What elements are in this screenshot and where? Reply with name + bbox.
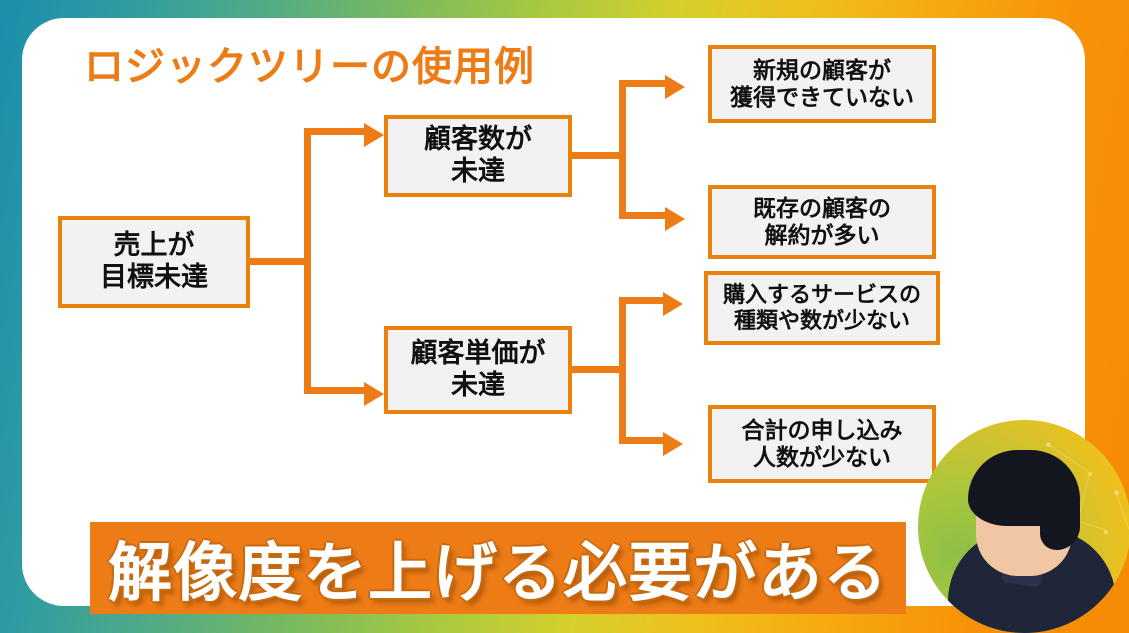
- connector-branch-1-to-leaf-2: [619, 212, 667, 219]
- connector-root-to-branch-1: [304, 128, 366, 135]
- arrowhead-leaf-2-icon: [665, 207, 685, 231]
- tree-node-line: 合計の申し込み: [742, 417, 903, 444]
- arrowhead-leaf-4-icon: [663, 432, 683, 456]
- connector-root-stem: [250, 258, 310, 265]
- arrowhead-branch-2-icon: [364, 382, 384, 406]
- conclusion-banner: 解像度を上げる必要がある: [90, 522, 906, 614]
- tree-node-line: 獲得できていない: [730, 84, 914, 111]
- tree-node-line: 顧客単価が: [411, 338, 546, 370]
- connector-branch-2-to-leaf-4: [619, 437, 665, 444]
- arrowhead-leaf-1-icon: [665, 75, 685, 99]
- page-title: ロジックツリーの使用例: [84, 44, 535, 90]
- tree-node-branch-1: 顧客数が 未達: [384, 115, 572, 197]
- slide-stage: ロジックツリーの使用例 売上が 目標未達 顧客数が 未達 顧客単価が: [0, 0, 1129, 633]
- arrowhead-leaf-3-icon: [663, 292, 683, 316]
- arrowhead-branch-1-icon: [364, 123, 384, 147]
- tree-node-line: 顧客数が: [424, 124, 532, 156]
- tree-node-root: 売上が 目標未達: [58, 216, 250, 308]
- tree-node-leaf-1: 新規の顧客が 獲得できていない: [708, 45, 936, 123]
- connector-branch-2-vertical: [619, 297, 626, 444]
- presenter-video-inset: [918, 420, 1129, 633]
- tree-node-line: 購入するサービスの: [723, 282, 921, 308]
- connector-branch-2-stem: [572, 366, 624, 373]
- tree-node-line: 売上が: [114, 230, 195, 262]
- tree-node-line: 未達: [451, 370, 505, 402]
- tree-node-line: 人数が少ない: [753, 444, 891, 471]
- tree-node-leaf-3: 購入するサービスの 種類や数が少ない: [704, 271, 940, 345]
- tree-node-line: 目標未達: [100, 262, 208, 294]
- tree-node-leaf-4: 合計の申し込み 人数が少ない: [708, 405, 936, 483]
- connector-branch-1-to-leaf-1: [619, 80, 667, 87]
- presenter-hair-side: [1040, 474, 1080, 550]
- tree-node-line: 解約が多い: [765, 222, 880, 249]
- tree-node-line: 既存の顧客の: [753, 195, 891, 222]
- tree-node-line: 未達: [451, 156, 505, 188]
- tree-node-line: 種類や数が少ない: [734, 308, 910, 334]
- connector-branch-1-stem: [572, 152, 624, 159]
- connector-branch-1-vertical: [619, 80, 626, 219]
- tree-node-branch-2: 顧客単価が 未達: [384, 326, 572, 414]
- connector-root-vertical: [304, 128, 311, 394]
- conclusion-banner-text: 解像度を上げる必要がある: [108, 522, 888, 614]
- connector-root-to-branch-2: [304, 387, 366, 394]
- tree-node-leaf-2: 既存の顧客の 解約が多い: [708, 185, 936, 259]
- tree-node-line: 新規の顧客が: [753, 57, 891, 84]
- connector-branch-2-to-leaf-3: [619, 297, 665, 304]
